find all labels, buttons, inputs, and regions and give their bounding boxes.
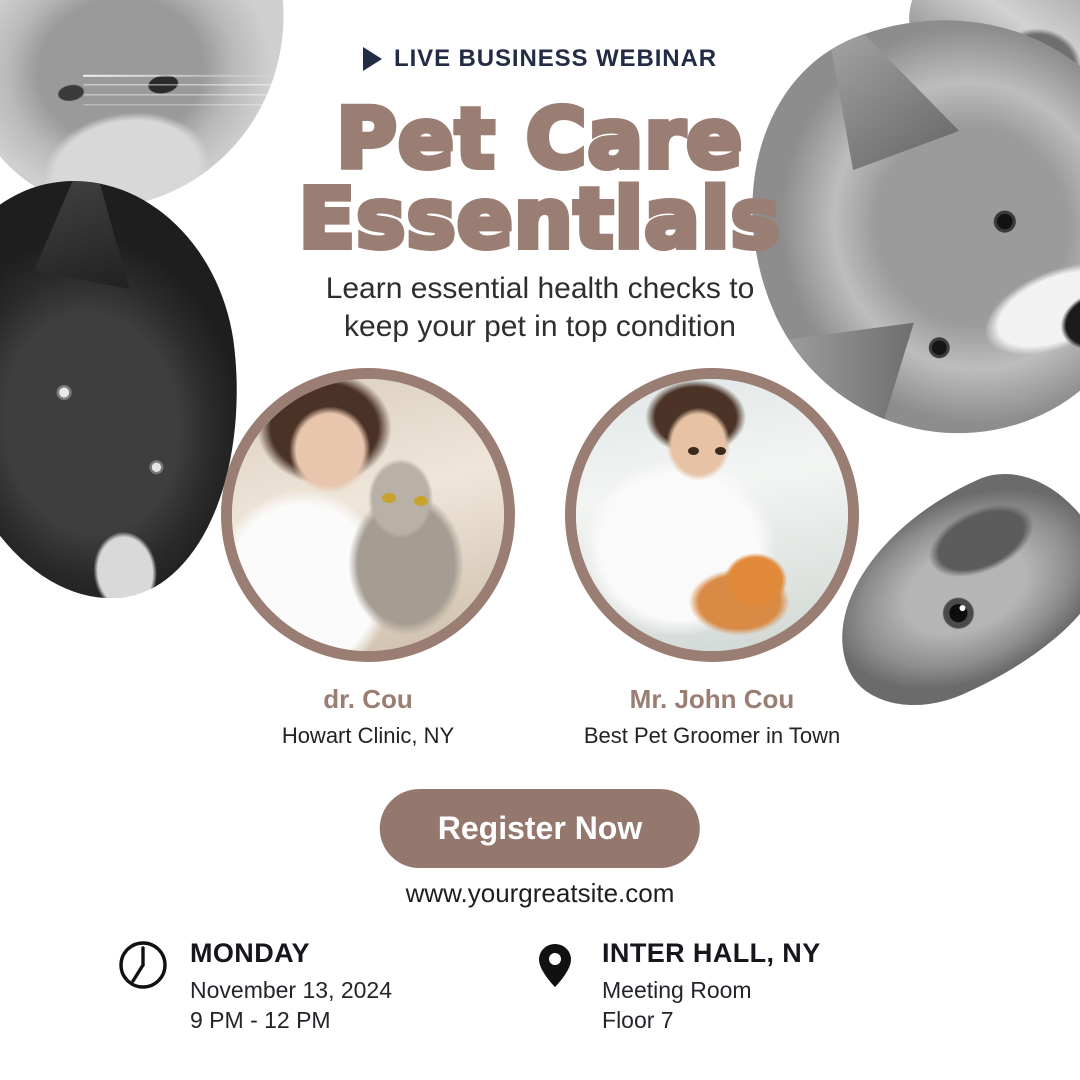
speaker-name: dr. Cou xyxy=(323,684,413,715)
speaker-role: Howart Clinic, NY xyxy=(282,723,454,749)
footer-venue-heading: INTER HALL, NY xyxy=(602,938,821,969)
eyebrow-label: LIVE BUSINESS WEBINAR xyxy=(394,45,717,73)
footer-venue-line2: Floor 7 xyxy=(602,1006,821,1034)
footer-venue-block: INTER HALL, NY Meeting Room Floor 7 xyxy=(530,938,821,1034)
poster-content: LIVE BUSINESS WEBINAR Pet Care Essential… xyxy=(0,0,1080,1080)
speaker-role: Best Pet Groomer in Town xyxy=(584,723,840,749)
avatar xyxy=(565,368,859,662)
footer-date-line1: November 13, 2024 xyxy=(190,976,392,1004)
speakers-list: dr. Cou Howart Clinic, NY Mr. John Cou B… xyxy=(0,368,1080,749)
footer-venue-line1: Meeting Room xyxy=(602,976,821,1004)
speaker-photo-man-with-cat xyxy=(576,379,848,651)
play-triangle-icon xyxy=(363,47,382,71)
footer-date-block: MONDAY November 13, 2024 9 PM - 12 PM xyxy=(118,938,392,1034)
clock-icon xyxy=(118,940,168,990)
website-url[interactable]: www.yourgreatsite.com xyxy=(0,878,1080,909)
speaker-photo-woman-with-cat xyxy=(232,379,504,651)
register-now-button[interactable]: Register Now xyxy=(380,789,700,868)
avatar xyxy=(221,368,515,662)
location-pin-icon xyxy=(530,940,580,990)
footer-date-heading: MONDAY xyxy=(190,938,392,969)
footer: MONDAY November 13, 2024 9 PM - 12 PM IN… xyxy=(0,938,1080,1034)
speaker-name: Mr. John Cou xyxy=(630,684,795,715)
speaker-card-2: Mr. John Cou Best Pet Groomer in Town xyxy=(562,368,862,749)
page-title: Pet Care Essentials xyxy=(0,100,1080,261)
eyebrow: LIVE BUSINESS WEBINAR xyxy=(0,45,1080,73)
subtitle: Learn essential health checks to keep yo… xyxy=(0,270,1080,347)
speaker-card-1: dr. Cou Howart Clinic, NY xyxy=(218,368,518,749)
footer-date-line2: 9 PM - 12 PM xyxy=(190,1006,392,1034)
